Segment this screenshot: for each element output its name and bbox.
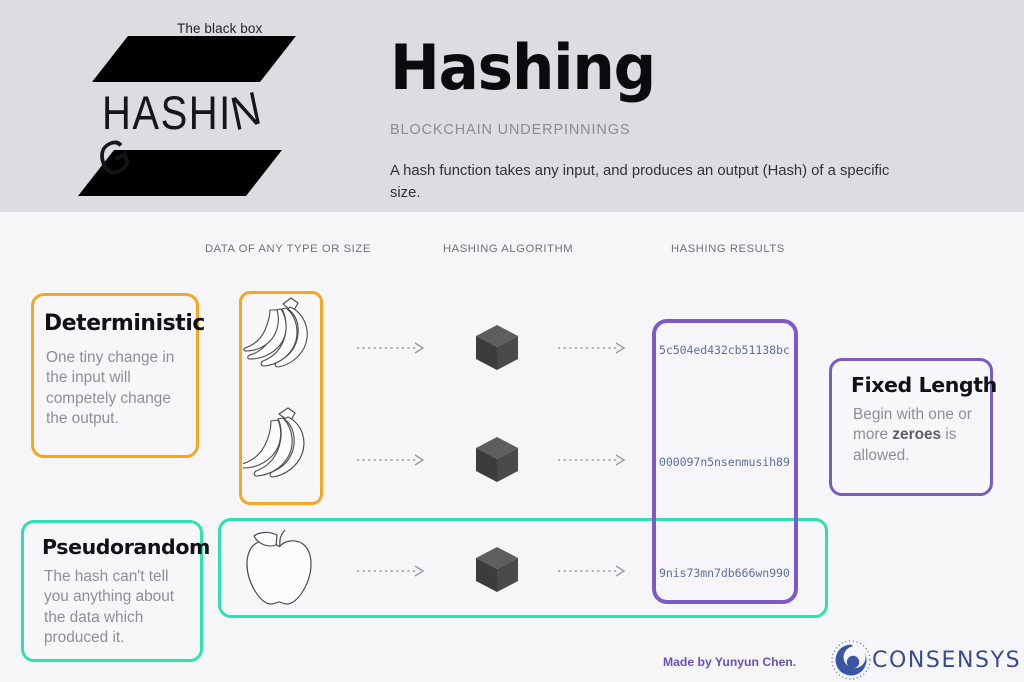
arrow-icon-algorithm-to-result-row1 <box>558 341 630 355</box>
hash-result-row2: 000097n5nsenmusih89 <box>659 455 790 469</box>
cube-icon-row3 <box>474 545 520 595</box>
arrow-icon-input-to-algorithm-row2 <box>357 453 429 467</box>
bananas-icon-row1 <box>243 294 319 396</box>
page-title: Hashing <box>390 37 655 99</box>
page-subtitle: BLOCKCHAIN UNDERPINNINGS <box>390 122 630 138</box>
black-box-label: The black box <box>177 21 262 36</box>
hashing-logo-art: HASHING <box>88 36 278 196</box>
cube-icon-row2 <box>474 435 520 485</box>
logo-wordmark: HASHING <box>102 88 278 194</box>
card-fixed-length: Fixed Length Begin with one or more zero… <box>829 358 993 496</box>
hash-result-row1: 5c504ed432cb51138bc <box>659 343 790 357</box>
card-pseudorandom-title: Pseudorandom <box>42 535 210 559</box>
arrow-icon-algorithm-to-result-row2 <box>558 453 630 467</box>
card-deterministic-body: One tiny change in the input will compet… <box>46 348 194 430</box>
card-deterministic-title: Deterministic <box>44 310 205 336</box>
hash-result-row3: 9nis73mn7db666wn990 <box>659 566 790 580</box>
logo-slab-top <box>92 36 296 82</box>
card-fixed-length-body: Begin with one or more zeroes is allowed… <box>853 405 993 466</box>
arrow-icon-algorithm-to-result-row3 <box>558 564 630 578</box>
bananas-icon-row2 <box>243 405 319 501</box>
fixed-length-text-bold: zeroes <box>892 426 941 443</box>
cube-icon-row1 <box>474 323 520 373</box>
column-header-results: HASHING RESULTS <box>671 243 785 255</box>
card-pseudorandom: Pseudorandom The hash can't tell you any… <box>21 520 203 662</box>
card-deterministic: Deterministic One tiny change in the inp… <box>31 293 199 458</box>
arrow-icon-input-to-algorithm-row1 <box>357 341 429 355</box>
page-description: A hash function takes any input, and pro… <box>390 160 910 205</box>
card-fixed-length-title: Fixed Length <box>851 373 997 397</box>
credit-text: Made by Yunyun Chen. <box>663 655 796 669</box>
arrow-icon-input-to-algorithm-row3 <box>357 564 429 578</box>
consensys-wordmark: CONSENSYS <box>872 648 1021 673</box>
card-pseudorandom-body: The hash can't tell you anything about t… <box>44 567 196 649</box>
column-header-data: DATA OF ANY TYPE OR SIZE <box>205 243 371 255</box>
column-header-algorithm: HASHING ALGORITHM <box>443 243 573 255</box>
